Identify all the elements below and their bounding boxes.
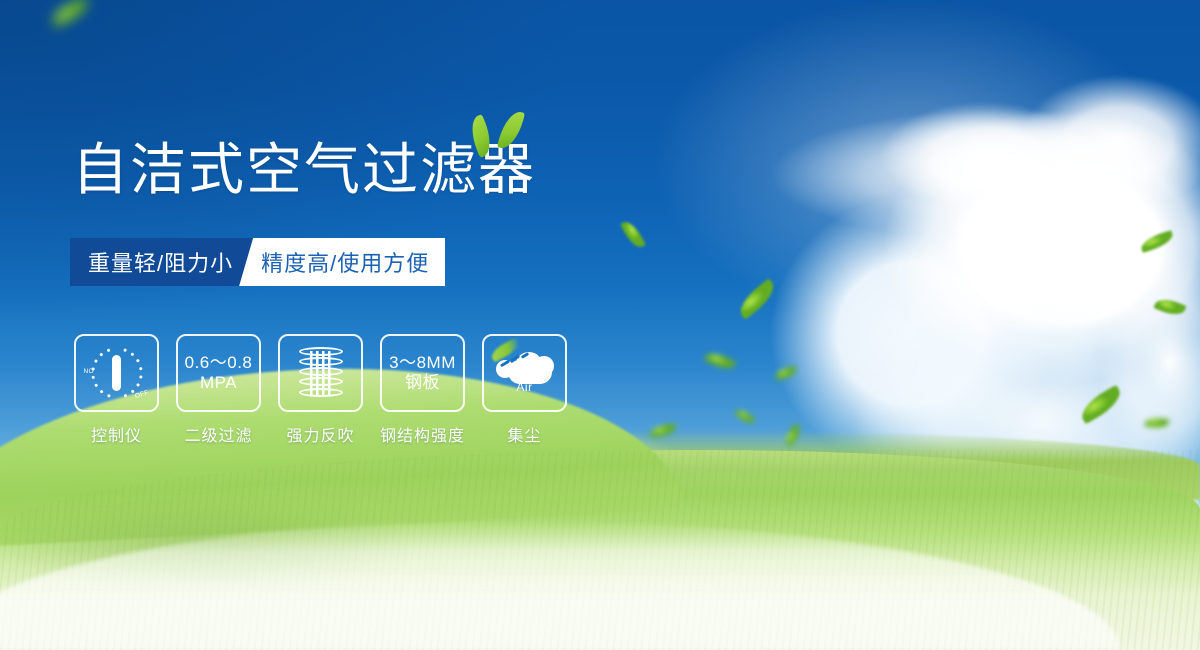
feature-item-steel[interactable]: 3～8MM 钢板 钢结构强度 (380, 334, 465, 446)
subtitle-bar: 重量轻/阻力小 精度高/使用方便 (70, 238, 462, 286)
feature-label-control: 控制仪 (91, 422, 142, 446)
subtitle-right: 精度高/使用方便 (239, 238, 445, 286)
sprout-leaves-icon (468, 108, 538, 158)
feature-item-dust[interactable]: Air 集尘 (482, 334, 567, 446)
feature-label-filter: 二级过滤 (184, 422, 252, 446)
feature-list: NO OFF 控制仪 0.6～0.8 MPA 二级过滤 (74, 334, 567, 446)
feature-item-filter[interactable]: 0.6～0.8 MPA 二级过滤 (176, 334, 261, 446)
gauge-needle-icon (112, 355, 121, 391)
coil-filter-icon (299, 347, 343, 399)
gauge-dial-icon: NO OFF (86, 344, 148, 402)
feature-label-steel: 钢结构强度 (380, 422, 465, 446)
feature-box-steel[interactable]: 3～8MM 钢板 (380, 334, 465, 412)
air-cloud-icon: Air (494, 350, 556, 396)
page-title: 自洁式空气过滤器 (72, 142, 536, 198)
feature-label-blowback: 强力反吹 (286, 422, 354, 446)
subtitle-left: 重量轻/阻力小 (70, 238, 253, 286)
cloud-puff-b (1020, 60, 1200, 210)
gauge-label-off: OFF (134, 389, 149, 400)
feature-box-dust[interactable]: Air (482, 334, 567, 412)
feature-box-control[interactable]: NO OFF (74, 334, 159, 412)
pressure-value: 0.6～0.8 (185, 353, 253, 373)
feature-item-control[interactable]: NO OFF 控制仪 (74, 334, 159, 446)
steel-thickness: 3～8MM (389, 353, 456, 373)
banner-root: 自洁式空气过滤器 重量轻/阻力小 精度高/使用方便 (0, 0, 1200, 650)
air-label: Air (494, 380, 556, 394)
leaf-icon-right (497, 108, 525, 151)
feature-item-blowback[interactable]: 强力反吹 (278, 334, 363, 446)
leaf-icon-left (465, 114, 497, 158)
feature-label-dust: 集尘 (507, 422, 541, 446)
steel-material: 钢板 (405, 373, 440, 393)
feature-box-filter[interactable]: 0.6～0.8 MPA (176, 334, 261, 412)
feature-box-blowback[interactable] (278, 334, 363, 412)
gauge-label-no: NO (84, 368, 94, 375)
pressure-unit: MPA (200, 373, 237, 393)
